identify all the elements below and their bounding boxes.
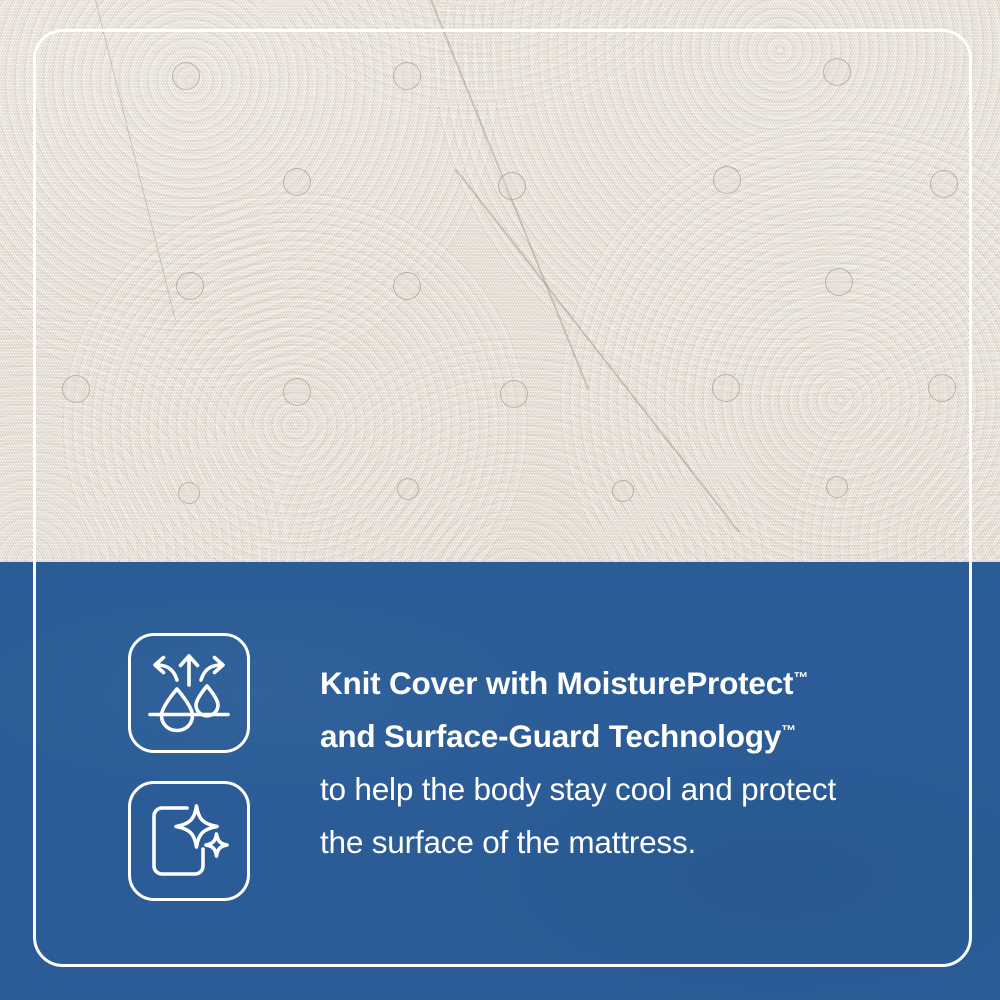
fabric-tuft-dot [176,272,204,300]
headline-line-1: Knit Cover with MoistureProtect™ [320,657,836,710]
feature-card: Knit Cover with MoistureProtect™ and Sur… [0,0,1000,1000]
fabric-tuft-dot [930,170,958,198]
fabric-tuft-dot [826,476,848,498]
fabric-tuft-dot [612,480,634,502]
fabric-tuft-dot [393,272,421,300]
surface-guard-icon[interactable] [128,781,250,901]
fabric-tuft-dot [178,482,200,504]
fabric-tuft-dot [283,168,311,196]
fabric-tuft-dot [397,478,419,500]
fabric-tuft-dot [500,380,528,408]
fabric-tuft-dot [928,374,956,402]
knit-fabric-photo [0,0,1000,562]
fabric-tuft-dot [712,374,740,402]
body-line-1: to help the body stay cool and protect [320,763,836,816]
fabric-tuft-dot [823,58,851,86]
fabric-tuft-dot [825,268,853,296]
headline-line-2-text: and Surface-Guard Technology [320,718,781,754]
icon-column [128,633,250,901]
fabric-tuft-dot [713,166,741,194]
fabric-tuft-dot [283,378,311,406]
sparkle-surface-glyph [148,801,230,881]
body-line-2: the surface of the mattress. [320,816,836,869]
trademark-symbol: ™ [781,723,796,740]
feature-content: Knit Cover with MoistureProtect™ and Sur… [128,633,938,901]
feature-text-block: Knit Cover with MoistureProtect™ and Sur… [320,633,836,869]
headline-line-1-text: Knit Cover with MoistureProtect [320,665,793,701]
trademark-symbol: ™ [793,670,808,687]
fabric-tuft-dot [498,172,526,200]
moisture-wicking-glyph [147,653,231,733]
headline-line-2: and Surface-Guard Technology™ [320,710,836,763]
moisture-protect-icon[interactable] [128,633,250,753]
fabric-tuft-dot [62,375,90,403]
fabric-tuft-dot [393,62,421,90]
fabric-tuft-dot [172,62,200,90]
